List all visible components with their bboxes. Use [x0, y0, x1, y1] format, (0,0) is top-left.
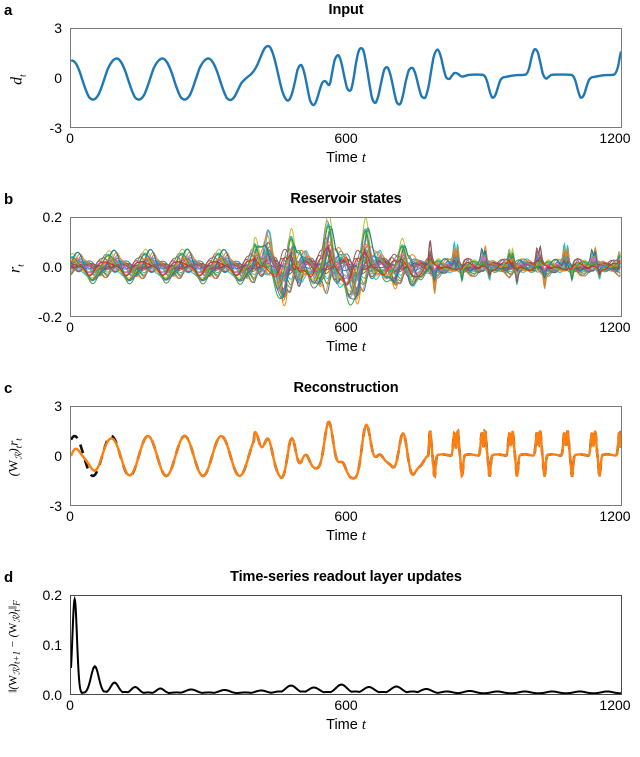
x-axis-label-d-text: Time	[326, 717, 358, 733]
x-axis-label-a-text: Time	[326, 150, 358, 166]
reconstruction-svg	[71, 407, 621, 505]
panel-title-reconstruction: Reconstruction	[70, 380, 622, 396]
x-axis-label-d-var: t	[362, 717, 366, 733]
panel-letter-b: b	[4, 191, 13, 208]
x-axis-label-b-text: Time	[326, 339, 358, 355]
y-tick-b-1: 0.0	[0, 259, 62, 275]
plot-area-d	[70, 595, 622, 695]
input-signal-line	[71, 46, 621, 105]
x-tick-c-2: 1200	[599, 508, 630, 524]
panel-d-readout-updates: d Time-series readout layer updates ‖(Wℛ…	[0, 567, 640, 757]
y-tick-a-1: 0	[0, 70, 62, 86]
plot-area-b	[70, 217, 622, 317]
x-axis-label-a: Time t	[70, 150, 622, 167]
y-ticks-b: 0.2 0.0 -0.2	[0, 217, 66, 317]
y-tick-d-1: 0.1	[0, 637, 62, 653]
y-ticks-d: 0.2 0.1 0.0	[0, 595, 66, 695]
x-tick-d-1: 600	[334, 697, 357, 713]
x-axis-label-b-var: t	[362, 339, 366, 355]
reservoir-states-svg	[71, 218, 621, 316]
x-axis-label-c: Time t	[70, 528, 622, 545]
x-tick-c-1: 600	[334, 508, 357, 524]
y-tick-b-0: 0.2	[0, 209, 62, 225]
plot-area-c	[70, 406, 622, 506]
x-tick-b-0: 0	[66, 319, 74, 335]
x-ticks-a: 0 600 1200	[0, 130, 640, 150]
y-ticks-a: 3 0 -3	[0, 28, 66, 128]
plot-area-a	[70, 28, 622, 128]
update-norm-line	[71, 599, 621, 693]
x-tick-d-2: 1200	[599, 697, 630, 713]
panel-c-reconstruction: c Reconstruction (Wℛ)trt 3 0 -3 0 600 12…	[0, 378, 640, 567]
x-tick-a-2: 1200	[599, 130, 630, 146]
panel-title-readout-updates: Time-series readout layer updates	[70, 569, 622, 585]
y-ticks-c: 3 0 -3	[0, 406, 66, 506]
x-tick-c-0: 0	[66, 508, 74, 524]
x-axis-label-c-text: Time	[326, 528, 358, 544]
panel-letter-c: c	[4, 380, 12, 397]
x-tick-d-0: 0	[66, 697, 74, 713]
y-tick-c-1: 0	[0, 448, 62, 464]
x-axis-label-a-var: t	[362, 150, 366, 166]
readout-updates-svg	[71, 596, 621, 694]
x-tick-a-0: 0	[66, 130, 74, 146]
reconstruction-line	[71, 422, 621, 478]
x-axis-label-b: Time t	[70, 339, 622, 356]
panel-title-input: Input	[70, 2, 622, 18]
std-band-area	[71, 596, 620, 694]
x-ticks-d: 0 600 1200	[0, 697, 640, 717]
panel-b-reservoir-states: b Reservoir states rt 0.2 0.0 -0.2 0 600…	[0, 189, 640, 378]
y-tick-c-0: 3	[0, 398, 62, 414]
x-axis-label-d: Time t	[70, 717, 622, 734]
panel-letter-a: a	[4, 2, 12, 19]
x-ticks-c: 0 600 1200	[0, 508, 640, 528]
y-tick-d-0: 0.2	[0, 587, 62, 603]
input-signal-svg	[71, 29, 621, 127]
x-tick-b-2: 1200	[599, 319, 630, 335]
y-tick-a-0: 3	[0, 20, 62, 36]
x-tick-b-1: 600	[334, 319, 357, 335]
panel-a-input: a Input dt 3 0 -3 0 600 1200 Time t	[0, 0, 640, 189]
x-tick-a-1: 600	[334, 130, 357, 146]
x-ticks-b: 0 600 1200	[0, 319, 640, 339]
x-axis-label-c-var: t	[362, 528, 366, 544]
panel-title-reservoir-states: Reservoir states	[70, 191, 622, 207]
